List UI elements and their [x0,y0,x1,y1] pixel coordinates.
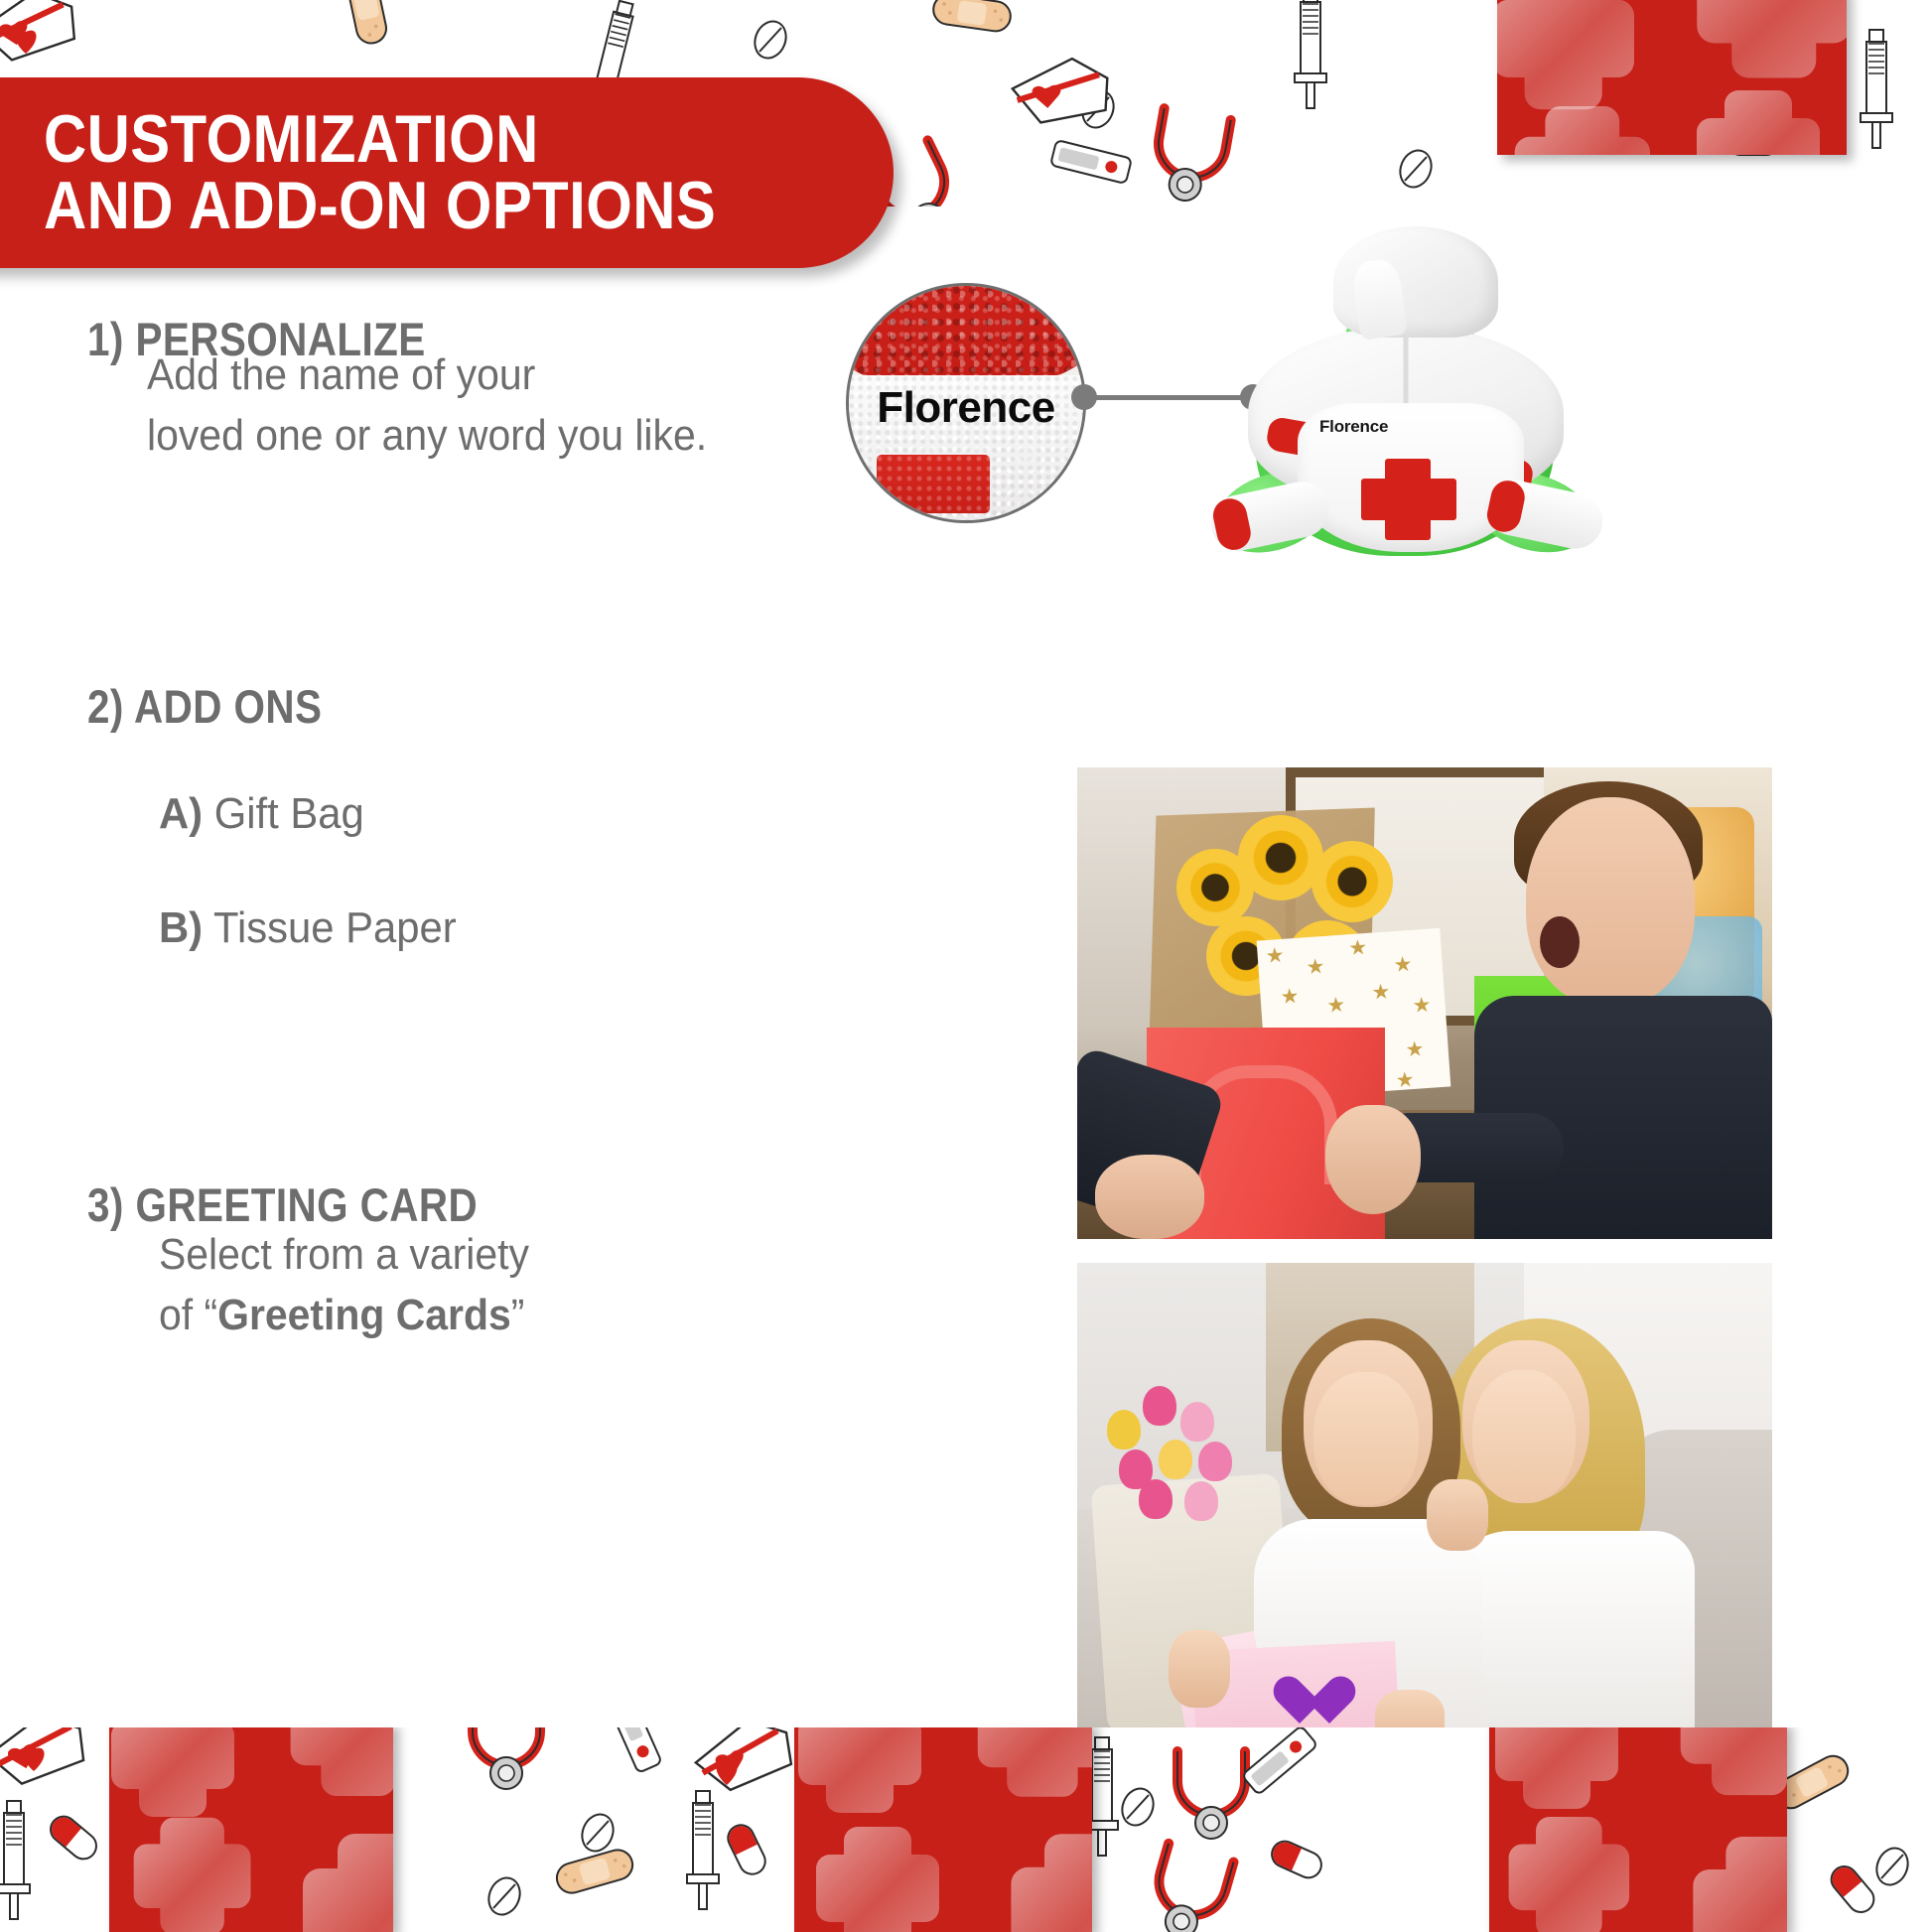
turtle-arm-left [1205,477,1333,556]
personalize-line-2: loved one or any word you like. [147,406,707,467]
add-on-item-gift-bag: A) Gift Bag [159,789,364,839]
tulip [1139,1479,1173,1519]
greeting-card-line-1: Select from a variety [159,1225,529,1286]
cross-watermark [1497,0,1847,155]
star-icon: ★ [1265,945,1285,967]
add-on-marker-a: A) [159,789,203,838]
daughter-hand-left [1169,1630,1230,1708]
nurse-cap-hood [1333,226,1498,338]
magnifier-callout-circle: Florence [846,283,1086,523]
red-cross-panel-top-right [1497,0,1847,155]
section-body-greeting-card: Select from a variety of “Greeting Cards… [159,1225,529,1345]
star-icon: ★ [1326,995,1346,1017]
cross-watermark [109,1727,393,1932]
adult-hand [1095,1155,1204,1239]
plush-turtle-nurse: Florence [1186,208,1623,606]
boy-head [1526,797,1695,1006]
tulip-bouquet [1095,1380,1264,1519]
personalize-line-1: Add the name of your [147,345,707,406]
sunflower [1238,815,1323,900]
greeting-card-bold-term: Greeting Cards [217,1291,511,1339]
tulip [1198,1442,1232,1481]
magnifier-name-text: Florence [849,383,1083,433]
star-icon: ★ [1348,937,1368,959]
star-icon: ★ [1306,956,1325,978]
heart-icon [1274,1678,1329,1727]
tulip [1143,1386,1176,1426]
star-icon: ★ [1412,995,1432,1017]
red-cross-panel-3 [1489,1727,1787,1932]
add-on-item-tissue-paper: B) Tissue Paper [159,903,457,953]
cross-watermark [794,1727,1092,1932]
gift-bag-photo: ★ ★ ★ ★ ★ ★ ★ ★ ★ ★ ★ ★ ★ ★ ★ [1077,767,1772,1239]
turtle-arm-right [1479,475,1607,554]
star-icon: ★ [1393,954,1413,976]
add-on-label-tissue-paper: Tissue Paper [213,903,457,952]
section-body-personalize: Add the name of your loved one or any wo… [147,345,707,466]
headline-line-1: CUSTOMIZATION [44,106,791,173]
boy-open-mouth [1540,916,1580,968]
red-cross-panel-2 [794,1727,1092,1932]
product-photo-personalization: Florence Florence [1077,213,1633,611]
sleeve-cuff-left [1210,495,1254,553]
greeting-card-line-2: of “Greeting Cards” [159,1286,529,1346]
star-icon: ★ [1371,981,1391,1003]
daughter-hand-right [1375,1690,1445,1727]
add-on-label-gift-bag: Gift Bag [214,789,364,838]
embroidered-name-label: Florence [1319,417,1388,437]
daughter-face [1313,1372,1419,1505]
star-icon: ★ [1405,1038,1425,1060]
add-on-marker-b: B) [159,903,203,952]
tulip [1107,1410,1141,1449]
section-title-add-ons: 2) ADD ONS [87,679,322,734]
apron-cross-horizontal [1361,479,1456,520]
callout-dot-left [1071,384,1097,410]
section-title-greeting-card: 3) GREETING CARD [87,1177,478,1232]
tulip [1184,1481,1218,1521]
red-cross-panel-1 [109,1727,393,1932]
greeting-card-quote-close: ” [511,1291,525,1339]
greeting-card-quote-open: of “ [159,1291,217,1339]
poster-canvas: CUSTOMIZATION AND ADD-ON OPTIONS 1) PERS… [0,0,1932,1932]
cross-watermark [1489,1727,1787,1932]
bottom-decor-strip [0,1727,1932,1932]
tulip [1159,1440,1192,1479]
mother-face [1472,1370,1576,1503]
headline-line-2: AND ADD-ON OPTIONS [44,173,791,239]
nurse-apron: Florence [1298,403,1524,552]
mother-hand [1427,1479,1488,1551]
mother-shirt [1447,1531,1695,1727]
boy-hand [1325,1105,1421,1214]
embroidered-cross-red [877,455,989,513]
headline-banner: CUSTOMIZATION AND ADD-ON OPTIONS [0,77,894,268]
star-icon: ★ [1280,986,1300,1008]
star-icon: ★ [1395,1069,1415,1091]
sunflower [1311,841,1393,922]
tulip [1180,1402,1214,1442]
greeting-card-photo [1077,1263,1772,1727]
